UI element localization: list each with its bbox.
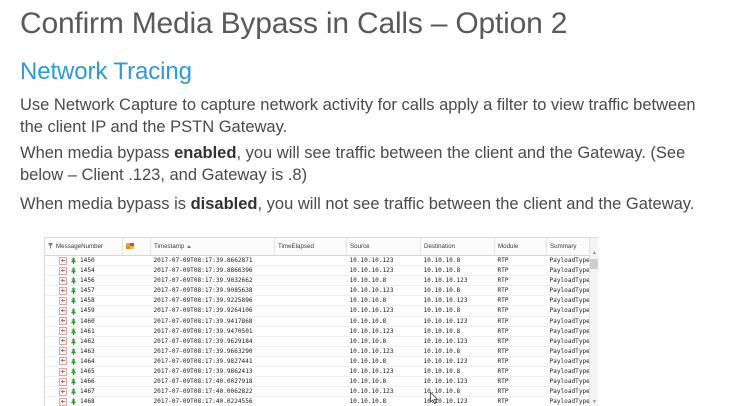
table-row[interactable]: 14622017-07-09T08:17:39.962918410.10.10.… <box>45 336 598 346</box>
cell-message-number[interactable]: 1461 <box>45 326 123 336</box>
cell-module[interactable]: RTP <box>495 356 547 366</box>
expand-row-icon[interactable] <box>59 257 67 265</box>
paragraph-disabled-text-after: , you will not see traffic between the c… <box>258 195 695 213</box>
frame-tree-icon <box>70 398 77 405</box>
cell-message-number[interactable]: 1459 <box>45 306 123 316</box>
frame-tree-icon <box>70 328 77 335</box>
scrollbar-thumb[interactable] <box>590 259 598 269</box>
expand-row-icon[interactable] <box>59 337 67 345</box>
cell-source[interactable]: 10.10.10.8 <box>347 397 421 406</box>
frame-tree-icon <box>70 348 77 355</box>
paragraph-enabled-text-before: When media bypass <box>20 144 174 162</box>
network-capture-screenshot: MessageNumber <box>44 237 598 406</box>
cell-module[interactable]: RTP <box>495 296 547 306</box>
expand-row-icon[interactable] <box>59 357 67 365</box>
scroll-up-icon[interactable]: ▲ <box>590 249 598 258</box>
cell-flag[interactable] <box>123 336 151 346</box>
cell-message-number-value: 1461 <box>80 327 95 336</box>
cell-message-number-value: 1457 <box>80 286 95 295</box>
cell-message-number-value: 1464 <box>80 357 95 366</box>
frame-tree-icon <box>70 378 77 385</box>
cell-message-number-value: 1463 <box>80 347 95 356</box>
cell-source[interactable]: 10.10.10.123 <box>347 256 421 266</box>
page-subtitle: Network Tracing <box>20 58 192 86</box>
capture-vertical-scrollbar[interactable]: ▲ ▼ <box>589 238 598 406</box>
cell-time-elapsed[interactable] <box>275 367 347 377</box>
table-row[interactable]: 14572017-07-09T08:17:39.908563810.10.10.… <box>45 286 598 296</box>
cell-destination[interactable]: 10.10.10.8 <box>421 326 495 336</box>
table-body: 14502017-07-09T08:17:39.866287110.10.10.… <box>45 256 598 406</box>
cell-message-number-value: 1458 <box>80 296 95 305</box>
scroll-down-icon[interactable]: ▼ <box>590 398 598 406</box>
frame-tree-icon <box>70 308 77 315</box>
cell-timestamp[interactable]: 2017-07-09T08:17:39.9827441 <box>151 356 275 366</box>
table-row[interactable]: 14652017-07-09T08:17:39.986241310.10.10.… <box>45 367 598 377</box>
cell-flag[interactable] <box>123 346 151 356</box>
frame-tree-icon <box>70 338 77 345</box>
cell-timestamp[interactable]: 2017-07-09T08:17:39.9663290 <box>151 346 275 356</box>
cell-module[interactable]: RTP <box>495 266 547 276</box>
expand-row-icon[interactable] <box>59 347 67 355</box>
cell-timestamp[interactable]: 2017-07-09T08:17:39.9085638 <box>151 286 275 296</box>
cell-timestamp[interactable]: 2017-07-09T08:17:39.9470501 <box>151 326 275 336</box>
cell-module[interactable]: RTP <box>495 346 547 356</box>
cell-message-number-value: 1465 <box>80 367 95 376</box>
cell-message-number[interactable]: 1460 <box>45 316 123 326</box>
cell-message-number[interactable]: 1456 <box>45 276 123 286</box>
cell-flag[interactable] <box>123 256 151 266</box>
cell-message-number-value: 1460 <box>80 317 95 326</box>
cell-source[interactable]: 10.10.10.8 <box>347 377 421 387</box>
frame-tree-icon <box>70 318 77 325</box>
column-header-timestamp[interactable]: Timestamp <box>151 238 275 256</box>
paragraph-intro-text: Use Network Capture to capture network a… <box>20 96 696 136</box>
cell-timestamp[interactable]: 2017-07-09T08:17:39.8662871 <box>151 256 275 266</box>
cell-timestamp[interactable]: 2017-07-09T08:17:40.0062822 <box>151 387 275 397</box>
cell-destination[interactable]: 10.10.10.123 <box>421 397 495 406</box>
cell-source[interactable]: 10.10.10.8 <box>347 296 421 306</box>
cell-destination[interactable]: 10.10.10.123 <box>421 296 495 306</box>
column-header-source-label: Source <box>350 243 370 250</box>
column-header-source[interactable]: Source <box>347 238 421 256</box>
frame-tree-icon <box>70 257 77 264</box>
cell-destination[interactable]: 10.10.10.8 <box>421 266 495 276</box>
slide-canvas: Confirm Media Bypass in Calls – Option 2… <box>0 0 731 406</box>
cell-time-elapsed[interactable] <box>275 326 347 336</box>
cell-flag[interactable] <box>123 367 151 377</box>
cell-message-number-value: 1456 <box>80 276 95 285</box>
cell-module[interactable]: RTP <box>495 387 547 397</box>
cell-message-number[interactable]: 1466 <box>45 377 123 387</box>
table-row[interactable]: 14592017-07-09T08:17:39.926410610.10.10.… <box>45 306 598 316</box>
cell-message-number[interactable]: 1454 <box>45 266 123 276</box>
cell-destination[interactable]: 10.10.10.123 <box>421 276 495 286</box>
frame-tree-icon <box>70 358 77 365</box>
table-row[interactable]: 14612017-07-09T08:17:39.947050110.10.10.… <box>45 326 598 336</box>
cell-destination[interactable]: 10.10.10.8 <box>421 306 495 316</box>
cell-message-number[interactable]: 1467 <box>45 387 123 397</box>
cell-module[interactable]: RTP <box>495 336 547 346</box>
column-header-module[interactable]: Module <box>495 238 547 256</box>
cell-timestamp[interactable]: 2017-07-09T08:17:39.9264106 <box>151 306 275 316</box>
column-header-time-elapsed-label: TimeElapsed <box>278 243 314 250</box>
cell-timestamp[interactable]: 2017-07-09T08:17:39.9032662 <box>151 276 275 286</box>
expand-row-icon[interactable] <box>59 297 67 305</box>
cell-message-number[interactable]: 1464 <box>45 356 123 366</box>
cell-message-number[interactable]: 1463 <box>45 346 123 356</box>
column-header-destination-label: Destination <box>424 243 455 250</box>
column-header-message-number-label: MessageNumber <box>56 243 103 250</box>
expand-row-icon[interactable] <box>59 378 67 386</box>
cell-message-number-value: 1450 <box>80 256 95 265</box>
frame-tree-icon <box>70 297 77 304</box>
cell-module[interactable]: RTP <box>495 326 547 336</box>
column-header-timestamp-label: Timestamp <box>154 243 184 250</box>
filter-icon <box>48 243 53 251</box>
cell-destination[interactable]: 10.10.10.123 <box>421 377 495 387</box>
cell-time-elapsed[interactable] <box>275 266 347 276</box>
cell-source[interactable]: 10.10.10.123 <box>347 367 421 377</box>
cell-time-elapsed[interactable] <box>275 336 347 346</box>
cell-message-number-value: 1467 <box>80 387 95 396</box>
table-row[interactable]: 14582017-07-09T08:17:39.922589610.10.10.… <box>45 296 598 306</box>
cell-source[interactable]: 10.10.10.123 <box>347 306 421 316</box>
cell-flag[interactable] <box>123 296 151 306</box>
cell-time-elapsed[interactable] <box>275 387 347 397</box>
cell-destination[interactable]: 10.10.10.8 <box>421 286 495 296</box>
cell-message-number-value: 1466 <box>80 377 95 386</box>
cell-flag[interactable] <box>123 306 151 316</box>
sort-ascending-icon <box>187 245 191 248</box>
cell-destination[interactable]: 10.10.10.123 <box>421 336 495 346</box>
cell-flag[interactable] <box>123 286 151 296</box>
cell-flag[interactable] <box>123 276 151 286</box>
cell-message-number[interactable]: 1462 <box>45 336 123 346</box>
paragraph-disabled: When media bypass is disabled, you will … <box>20 194 720 216</box>
cell-source[interactable]: 10.10.10.8 <box>347 316 421 326</box>
cell-module[interactable]: RTP <box>495 256 547 266</box>
expand-row-icon[interactable] <box>59 398 67 406</box>
cell-flag[interactable] <box>123 377 151 387</box>
table-row[interactable]: 14662017-07-09T08:17:40.002791810.10.10.… <box>45 377 598 387</box>
table-header-row: MessageNumber <box>45 238 598 256</box>
cell-module[interactable]: RTP <box>495 377 547 387</box>
column-header-message-number[interactable]: MessageNumber <box>45 238 123 256</box>
expand-row-icon[interactable] <box>59 287 67 295</box>
cell-message-number-value: 1459 <box>80 306 95 315</box>
cell-message-number[interactable]: 1458 <box>45 296 123 306</box>
column-header-module-label: Module <box>498 243 518 250</box>
cell-flag[interactable] <box>123 316 151 326</box>
table-row[interactable]: 14672017-07-09T08:17:40.006282210.10.10.… <box>45 387 598 397</box>
frame-summary-table: MessageNumber <box>45 238 598 406</box>
column-header-flag[interactable] <box>123 238 151 256</box>
paragraph-enabled-emphasis: enabled <box>174 144 236 162</box>
cell-module[interactable]: RTP <box>495 286 547 296</box>
page-title: Confirm Media Bypass in Calls – Option 2 <box>20 6 567 42</box>
cell-source[interactable]: 10.10.10.123 <box>347 326 421 336</box>
cell-timestamp[interactable]: 2017-07-09T08:17:40.0027918 <box>151 377 275 387</box>
cell-time-elapsed[interactable] <box>275 346 347 356</box>
cell-destination[interactable]: 10.10.10.8 <box>421 367 495 377</box>
expand-row-icon[interactable] <box>59 267 67 275</box>
paragraph-disabled-emphasis: disabled <box>191 195 258 213</box>
cell-flag[interactable] <box>123 356 151 366</box>
cell-timestamp[interactable]: 2017-07-09T08:17:39.9225896 <box>151 296 275 306</box>
cell-time-elapsed[interactable] <box>275 286 347 296</box>
paragraph-enabled: When media bypass enabled, you will see … <box>20 143 720 186</box>
expand-row-icon[interactable] <box>59 307 67 315</box>
cell-destination[interactable]: 10.10.10.8 <box>421 387 495 397</box>
table-row[interactable]: 14632017-07-09T08:17:39.966329010.10.10.… <box>45 346 598 356</box>
cell-time-elapsed[interactable] <box>275 296 347 306</box>
cell-message-number[interactable]: 1450 <box>45 256 123 266</box>
column-header-time-elapsed[interactable]: TimeElapsed <box>275 238 347 256</box>
expand-row-icon[interactable] <box>59 277 67 285</box>
cell-time-elapsed[interactable] <box>275 377 347 387</box>
column-header-summary-label: Summary <box>550 243 576 250</box>
cell-time-elapsed[interactable] <box>275 276 347 286</box>
frame-tree-icon <box>70 368 77 375</box>
table-row[interactable]: 14642017-07-09T08:17:39.982744110.10.10.… <box>45 356 598 366</box>
table-row[interactable]: 14682017-07-09T08:17:40.022455610.10.10.… <box>45 397 598 406</box>
expand-row-icon[interactable] <box>59 388 67 396</box>
cell-message-number-value: 1462 <box>80 337 95 346</box>
cell-message-number[interactable]: 1468 <box>45 397 123 406</box>
expand-row-icon[interactable] <box>59 368 67 376</box>
table-header: MessageNumber <box>45 238 598 256</box>
expand-row-icon[interactable] <box>59 327 67 335</box>
cell-destination[interactable]: 10.10.10.123 <box>421 356 495 366</box>
cell-module[interactable]: RTP <box>495 397 547 406</box>
cell-time-elapsed[interactable] <box>275 316 347 326</box>
cell-time-elapsed[interactable] <box>275 397 347 406</box>
cell-destination[interactable]: 10.10.10.8 <box>421 256 495 266</box>
cell-flag[interactable] <box>123 326 151 336</box>
cell-module[interactable]: RTP <box>495 316 547 326</box>
paragraph-intro: Use Network Capture to capture network a… <box>20 95 720 138</box>
cell-module[interactable]: RTP <box>495 367 547 377</box>
cell-message-number-value: 1468 <box>80 397 95 406</box>
cell-flag[interactable] <box>123 266 151 276</box>
cell-source[interactable]: 10.10.10.8 <box>347 336 421 346</box>
cell-destination[interactable]: 10.10.10.123 <box>421 316 495 326</box>
cell-time-elapsed[interactable] <box>275 256 347 266</box>
cell-timestamp[interactable]: 2017-07-09T08:17:39.9629184 <box>151 336 275 346</box>
frame-tree-icon <box>70 388 77 395</box>
frame-tree-icon <box>70 287 77 294</box>
cell-flag[interactable] <box>123 387 151 397</box>
cell-message-number-value: 1454 <box>80 266 95 275</box>
table-row[interactable]: 14562017-07-09T08:17:39.903266210.10.10.… <box>45 276 598 286</box>
expand-row-icon[interactable] <box>59 317 67 325</box>
table-row[interactable]: 14542017-07-09T08:17:39.886639610.10.10.… <box>45 266 598 276</box>
cell-time-elapsed[interactable] <box>275 356 347 366</box>
paragraph-disabled-text-before: When media bypass is <box>20 195 191 213</box>
cell-flag[interactable] <box>123 397 151 406</box>
cell-source[interactable]: 10.10.10.8 <box>347 356 421 366</box>
frame-tree-icon <box>70 267 77 274</box>
cell-destination[interactable]: 10.10.10.8 <box>421 346 495 356</box>
column-header-destination[interactable]: Destination <box>421 238 495 256</box>
cell-timestamp[interactable]: 2017-07-09T08:17:39.8866396 <box>151 266 275 276</box>
cell-source[interactable]: 10.10.10.123 <box>347 286 421 296</box>
cell-source[interactable]: 10.10.10.123 <box>347 387 421 397</box>
table-row[interactable]: 14602017-07-09T08:17:39.941786810.10.10.… <box>45 316 598 326</box>
cell-timestamp[interactable]: 2017-07-09T08:17:39.9862413 <box>151 367 275 377</box>
cell-timestamp[interactable]: 2017-07-09T08:17:39.9417868 <box>151 316 275 326</box>
cell-module[interactable]: RTP <box>495 306 547 316</box>
cell-module[interactable]: RTP <box>495 276 547 286</box>
conversation-color-icon <box>126 244 134 251</box>
cell-source[interactable]: 10.10.10.123 <box>347 266 421 276</box>
cell-message-number[interactable]: 1457 <box>45 286 123 296</box>
cell-timestamp[interactable]: 2017-07-09T08:17:40.0224556 <box>151 397 275 406</box>
cell-source[interactable]: 10.10.10.8 <box>347 276 421 286</box>
cell-source[interactable]: 10.10.10.123 <box>347 346 421 356</box>
table-row[interactable]: 14502017-07-09T08:17:39.866287110.10.10.… <box>45 256 598 266</box>
cell-message-number[interactable]: 1465 <box>45 367 123 377</box>
frame-tree-icon <box>70 277 77 284</box>
cell-time-elapsed[interactable] <box>275 306 347 316</box>
